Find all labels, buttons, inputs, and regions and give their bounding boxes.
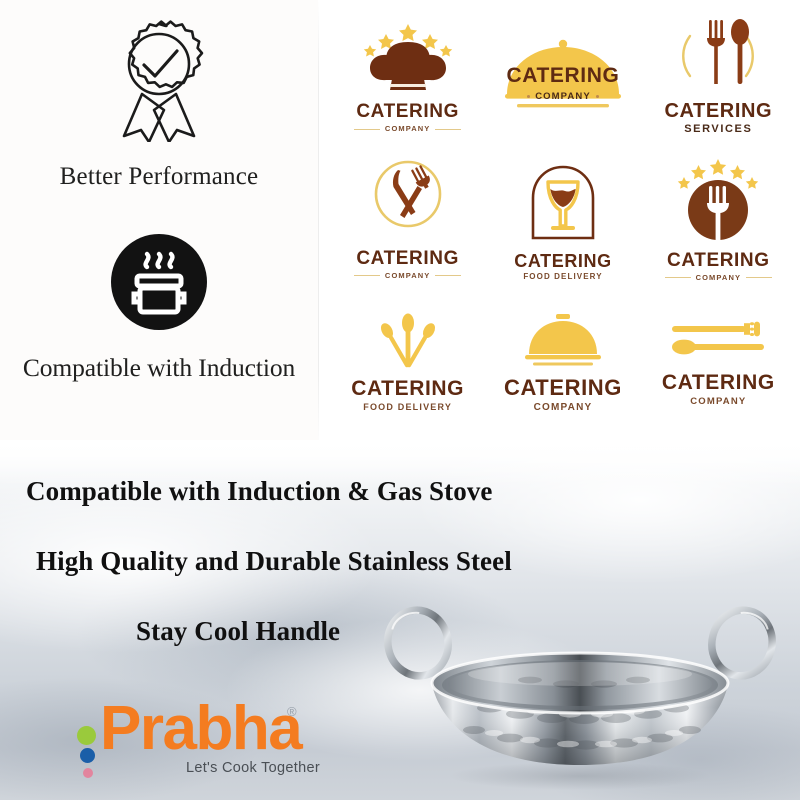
logo-card: CATERING COMPANY [641,291,796,434]
logo-card: CATERING COMPANY [485,4,640,147]
logo-text: CATERING COMPANY [662,372,775,407]
logo-card: CATERING COMPANY [641,147,796,290]
knife-fork-circle-icon [362,159,454,246]
tagline-stainless-steel: High Quality and Durable Stainless Steel [36,546,512,577]
logo-subtitle: COMPANY [690,397,746,407]
logo-sub-row: COMPANY [665,274,772,282]
logo-card: CATERING COMPANY [485,291,640,434]
fork-circle-stars-icon [669,157,767,248]
logo-card: CATERING FOOD DELIVERY [485,147,640,290]
three-spoons-fan-icon [360,313,456,374]
logo-subtitle: COMPANY [696,274,741,282]
blue-dot-icon [80,748,95,763]
brand-slogan: Let's Cook Together [186,760,320,776]
logo-title: CATERING [504,377,622,399]
logo-card: CATERING COMPANY [330,147,485,290]
logo-title: CATERING [514,252,611,270]
logo-text: CATERING COMPANY [354,249,461,280]
logo-subtitle: COMPANY [385,272,430,280]
green-dot-icon [77,726,96,745]
bottom-panel: Compatible with Induction & Gas Stove Hi… [0,440,800,800]
dot-left [527,95,530,98]
logo-text: CATERING COMPANY [665,251,772,282]
logo-title: CATERING [493,64,633,88]
logo-subtitle: FOOD DELIVERY [523,273,602,281]
logo-text: CATERING COMPANY [504,377,622,413]
rule-right [435,129,461,130]
award-badge-icon [0,18,318,147]
logo-card: CATERING FOOD DELIVERY [330,291,485,434]
logo-sub-row: COMPANY [354,125,461,133]
logo-subtitle: COMPANY [534,403,593,413]
top-panel: Better Performance [0,0,800,452]
rule-left [665,277,691,278]
logo-text: CATERING COMPANY [493,64,633,102]
logo-title: CATERING [662,372,775,393]
logo-subtitle: COMPANY [385,125,430,133]
logo-subtitle: FOOD DELIVERY [363,403,452,412]
logo-sub-row: COMPANY [354,272,461,280]
cloche-dome-yellow-icon [511,312,615,373]
fork-spoon-arcs-icon [666,16,770,95]
registered-trademark-icon: ® [287,704,297,719]
product-feature-banner: Better Performance [0,0,800,800]
logo-title: CATERING [356,102,459,121]
rule-right [746,277,772,278]
logo-title: CATERING [667,251,770,270]
rule-left [354,129,380,130]
rule-right [435,275,461,276]
kadai-product-image [370,590,790,790]
logo-text: CATERING FOOD DELIVERY [351,378,464,412]
logo-subtitle: COMPANY [535,91,591,102]
logo-title: CATERING [356,249,459,268]
logo-title: CATERING [351,378,464,399]
cloche-dome-icon: CATERING COMPANY [493,34,633,118]
spoon-fork-horizontal-icon [666,319,770,366]
wine-glass-arch-icon [520,156,606,247]
tagline-stay-cool-handle: Stay Cool Handle [136,616,340,647]
logo-card: CATERING COMPANY [330,4,485,147]
feature-compatible-with-induction: Compatible with Induction [0,232,318,383]
dot-right [596,95,599,98]
feature-label: Compatible with Induction [0,353,318,383]
feature-better-performance: Better Performance [0,18,318,191]
logo-card: CATERING SERVICES [641,4,796,147]
logo-title: CATERING [664,101,772,121]
logo-sub-row: COMPANY [493,91,633,102]
logo-text: CATERING SERVICES [664,101,772,135]
rule-left [354,275,380,276]
logo-text: CATERING COMPANY [354,97,461,133]
logo-subtitle: SERVICES [684,124,752,135]
tagline-induction-gas: Compatible with Induction & Gas Stove [26,476,493,507]
brand-name: Prabha [100,698,301,760]
feature-label: Better Performance [0,163,318,191]
brand-logo: Prabha ® Let's Cook Together [72,698,342,794]
pink-dot-icon [83,768,93,778]
induction-pot-icon [0,232,318,337]
chef-hat-stars-icon [356,18,460,97]
logo-text: CATERING FOOD DELIVERY [514,252,611,281]
catering-logo-grid: CATERING COMPANY [330,4,796,434]
